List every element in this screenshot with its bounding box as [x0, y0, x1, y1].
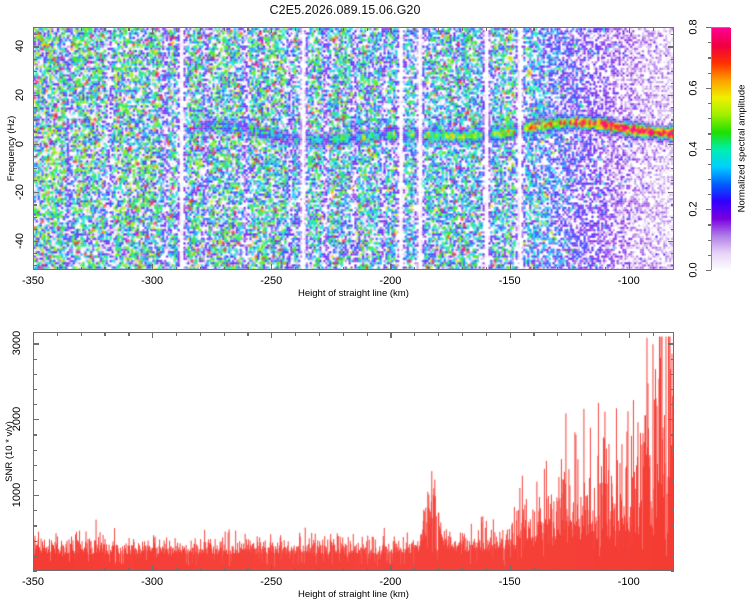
tick-mark	[486, 332, 487, 336]
tick-mark	[510, 27, 511, 33]
tick-mark	[33, 229, 37, 230]
tick-mark	[295, 332, 296, 336]
tick-mark	[486, 568, 487, 572]
tick-mark	[671, 83, 675, 84]
tick-mark	[224, 568, 225, 572]
tick-mark	[33, 389, 37, 390]
tick-mark	[557, 27, 558, 31]
spectrogram-y-tick--20: -20	[14, 184, 26, 200]
spectrogram-panel	[33, 27, 674, 270]
tick-mark	[533, 267, 534, 271]
tick-mark	[668, 144, 674, 145]
snr-y-tick-3000: 3000	[11, 331, 23, 355]
tick-mark	[57, 332, 58, 336]
tick-mark	[671, 229, 675, 230]
tick-mark	[33, 359, 37, 360]
tick-mark	[629, 332, 630, 338]
tick-mark	[668, 95, 674, 96]
tick-mark	[671, 510, 675, 511]
tick-mark	[81, 267, 82, 271]
tick-mark	[533, 332, 534, 336]
tick-mark	[605, 267, 606, 271]
tick-mark	[33, 404, 37, 405]
colorbar-gradient	[712, 28, 731, 271]
figure-root: C2E5.2026.089.15.06.G20 -350-300-250-200…	[0, 0, 750, 600]
tick-mark	[708, 118, 711, 119]
tick-mark	[33, 343, 39, 344]
tick-mark	[152, 332, 153, 338]
tick-mark	[671, 217, 675, 218]
tick-mark	[581, 27, 582, 31]
spectrogram-y-tick-40: 40	[14, 40, 26, 52]
tick-mark	[671, 265, 675, 266]
tick-mark	[81, 27, 82, 31]
spectrogram-y-tick--40: -40	[14, 233, 26, 249]
tick-mark	[33, 374, 37, 375]
tick-mark	[200, 27, 201, 31]
colorbar	[711, 27, 730, 270]
tick-mark	[33, 332, 34, 338]
tick-mark	[33, 180, 37, 181]
colorbar-axis-title: Normalized spectral amplitude	[736, 85, 747, 213]
tick-mark	[390, 27, 391, 33]
tick-mark	[706, 270, 711, 271]
tick-mark	[708, 240, 711, 241]
tick-mark	[390, 565, 391, 571]
tick-mark	[33, 168, 37, 169]
tick-mark	[671, 389, 675, 390]
tick-mark	[671, 107, 675, 108]
tick-mark	[33, 59, 37, 60]
tick-mark	[224, 267, 225, 271]
tick-mark	[708, 57, 711, 58]
tick-mark	[200, 332, 201, 336]
tick-mark	[33, 241, 39, 242]
tick-mark	[271, 565, 272, 571]
tick-mark	[668, 495, 674, 496]
tick-mark	[671, 374, 675, 375]
tick-mark	[708, 255, 711, 256]
tick-mark	[671, 541, 675, 542]
colorbar-tick-0.6: 0.6	[687, 80, 699, 95]
tick-mark	[319, 568, 320, 572]
tick-mark	[176, 568, 177, 572]
tick-mark	[671, 571, 675, 572]
tick-mark	[510, 264, 511, 270]
tick-mark	[271, 264, 272, 270]
tick-mark	[367, 27, 368, 31]
tick-mark	[671, 59, 675, 60]
tick-mark	[367, 332, 368, 336]
tick-mark	[708, 42, 711, 43]
tick-mark	[33, 253, 37, 254]
tick-mark	[57, 27, 58, 31]
tick-mark	[671, 168, 675, 169]
tick-mark	[390, 264, 391, 270]
tick-mark	[533, 27, 534, 31]
tick-mark	[668, 46, 674, 47]
tick-mark	[271, 332, 272, 338]
tick-mark	[176, 27, 177, 31]
tick-mark	[128, 267, 129, 271]
tick-mark	[33, 495, 39, 496]
tick-mark	[671, 480, 675, 481]
tick-mark	[671, 34, 675, 35]
tick-mark	[581, 267, 582, 271]
tick-mark	[462, 27, 463, 31]
spectrogram-x-tick--100: -100	[618, 275, 640, 287]
tick-mark	[152, 27, 153, 33]
tick-mark	[671, 131, 675, 132]
tick-mark	[33, 107, 37, 108]
tick-mark	[671, 404, 675, 405]
spectrogram-y-axis-title: Frequency (Hz)	[6, 116, 17, 181]
tick-mark	[671, 556, 675, 557]
snr-x-tick--200: -200	[379, 576, 401, 588]
tick-mark	[605, 568, 606, 572]
tick-mark	[708, 133, 711, 134]
tick-mark	[295, 568, 296, 572]
tick-mark	[510, 565, 511, 571]
tick-mark	[33, 119, 37, 120]
tick-mark	[152, 264, 153, 270]
spectrogram-y-tick-20: 20	[14, 89, 26, 101]
tick-mark	[706, 88, 711, 89]
tick-mark	[33, 450, 37, 451]
spectrogram-x-tick--350: -350	[22, 275, 44, 287]
tick-mark	[247, 568, 248, 572]
spectrogram-x-tick--150: -150	[499, 275, 521, 287]
tick-mark	[104, 267, 105, 271]
tick-mark	[438, 27, 439, 31]
tick-mark	[33, 131, 37, 132]
tick-mark	[33, 434, 37, 435]
tick-mark	[295, 267, 296, 271]
snr-x-tick--350: -350	[22, 576, 44, 588]
tick-mark	[414, 568, 415, 572]
snr-x-tick--150: -150	[499, 576, 521, 588]
snr-y-axis-title: SNR (10 * v/v)	[3, 421, 14, 482]
tick-mark	[581, 568, 582, 572]
tick-mark	[33, 156, 37, 157]
tick-mark	[708, 194, 711, 195]
tick-mark	[33, 265, 37, 266]
tick-mark	[668, 419, 674, 420]
colorbar-tick-0.0: 0.0	[687, 262, 699, 277]
tick-mark	[33, 71, 37, 72]
tick-mark	[486, 267, 487, 271]
tick-mark	[668, 241, 674, 242]
tick-mark	[557, 267, 558, 271]
tick-mark	[706, 149, 711, 150]
tick-mark	[200, 568, 201, 572]
tick-mark	[629, 565, 630, 571]
tick-mark	[367, 568, 368, 572]
tick-mark	[176, 267, 177, 271]
tick-mark	[414, 27, 415, 31]
tick-mark	[367, 267, 368, 271]
tick-mark	[247, 332, 248, 336]
snr-x-tick--250: -250	[260, 576, 282, 588]
tick-mark	[462, 568, 463, 572]
tick-mark	[708, 73, 711, 74]
spectrogram-x-tick--200: -200	[379, 275, 401, 287]
tick-mark	[438, 568, 439, 572]
tick-mark	[708, 103, 711, 104]
tick-mark	[671, 359, 675, 360]
tick-mark	[295, 27, 296, 31]
tick-mark	[671, 253, 675, 254]
snr-x-tick--300: -300	[141, 576, 163, 588]
tick-mark	[247, 267, 248, 271]
tick-mark	[414, 267, 415, 271]
tick-mark	[653, 27, 654, 31]
tick-mark	[33, 217, 37, 218]
tick-mark	[629, 264, 630, 270]
tick-mark	[671, 434, 675, 435]
tick-mark	[33, 419, 39, 420]
tick-mark	[104, 27, 105, 31]
snr-x-axis-title: Height of straight line (km)	[298, 589, 409, 600]
tick-mark	[343, 27, 344, 31]
tick-mark	[128, 27, 129, 31]
tick-mark	[671, 71, 675, 72]
tick-mark	[33, 571, 37, 572]
tick-mark	[414, 332, 415, 336]
tick-mark	[33, 144, 39, 145]
tick-mark	[708, 164, 711, 165]
colorbar-tick-0.2: 0.2	[687, 202, 699, 217]
tick-mark	[247, 27, 248, 31]
tick-mark	[668, 192, 674, 193]
tick-mark	[176, 332, 177, 336]
snr-panel	[33, 332, 674, 571]
colorbar-tick-0.8: 0.8	[687, 19, 699, 34]
tick-mark	[653, 267, 654, 271]
tick-mark	[319, 27, 320, 31]
tick-mark	[104, 568, 105, 572]
tick-mark	[33, 480, 37, 481]
tick-mark	[671, 119, 675, 120]
tick-mark	[33, 465, 37, 466]
tick-mark	[462, 332, 463, 336]
tick-mark	[33, 95, 39, 96]
tick-mark	[33, 556, 37, 557]
colorbar-tick-0.4: 0.4	[687, 141, 699, 156]
tick-mark	[57, 568, 58, 572]
tick-mark	[557, 332, 558, 336]
tick-mark	[33, 510, 37, 511]
tick-mark	[33, 525, 37, 526]
tick-mark	[57, 267, 58, 271]
tick-mark	[605, 332, 606, 336]
spectrogram-x-tick--300: -300	[141, 275, 163, 287]
tick-mark	[510, 332, 511, 338]
tick-mark	[671, 180, 675, 181]
snr-y-tick-1000: 1000	[11, 483, 23, 507]
tick-mark	[462, 267, 463, 271]
tick-mark	[33, 83, 37, 84]
tick-mark	[438, 332, 439, 336]
tick-mark	[33, 27, 34, 33]
tick-mark	[653, 568, 654, 572]
tick-mark	[319, 267, 320, 271]
tick-mark	[33, 192, 39, 193]
tick-mark	[390, 332, 391, 338]
tick-mark	[438, 267, 439, 271]
tick-mark	[104, 332, 105, 336]
tick-mark	[81, 332, 82, 336]
page-title: C2E5.2026.089.15.06.G20	[0, 3, 690, 17]
tick-mark	[629, 27, 630, 33]
tick-mark	[653, 332, 654, 336]
tick-mark	[557, 568, 558, 572]
spectrogram-x-axis-title: Height of straight line (km)	[298, 288, 409, 299]
snr-x-tick--100: -100	[618, 576, 640, 588]
tick-mark	[224, 332, 225, 336]
tick-mark	[605, 27, 606, 31]
tick-mark	[33, 34, 37, 35]
tick-mark	[33, 204, 37, 205]
tick-mark	[128, 568, 129, 572]
tick-mark	[319, 332, 320, 336]
tick-mark	[343, 267, 344, 271]
snr-trace	[34, 333, 674, 571]
tick-mark	[708, 224, 711, 225]
tick-mark	[706, 209, 711, 210]
tick-mark	[671, 525, 675, 526]
spectrogram-image	[34, 28, 674, 270]
tick-mark	[200, 267, 201, 271]
tick-mark	[486, 27, 487, 31]
tick-mark	[81, 568, 82, 572]
tick-mark	[33, 46, 39, 47]
tick-mark	[152, 565, 153, 571]
tick-mark	[671, 156, 675, 157]
tick-mark	[706, 27, 711, 28]
tick-mark	[671, 450, 675, 451]
tick-mark	[668, 343, 674, 344]
tick-mark	[343, 568, 344, 572]
tick-mark	[271, 27, 272, 33]
tick-mark	[581, 332, 582, 336]
tick-mark	[708, 179, 711, 180]
tick-mark	[343, 332, 344, 336]
tick-mark	[671, 204, 675, 205]
spectrogram-x-tick--250: -250	[260, 275, 282, 287]
tick-mark	[533, 568, 534, 572]
tick-mark	[671, 465, 675, 466]
tick-mark	[128, 332, 129, 336]
tick-mark	[33, 541, 37, 542]
tick-mark	[224, 27, 225, 31]
